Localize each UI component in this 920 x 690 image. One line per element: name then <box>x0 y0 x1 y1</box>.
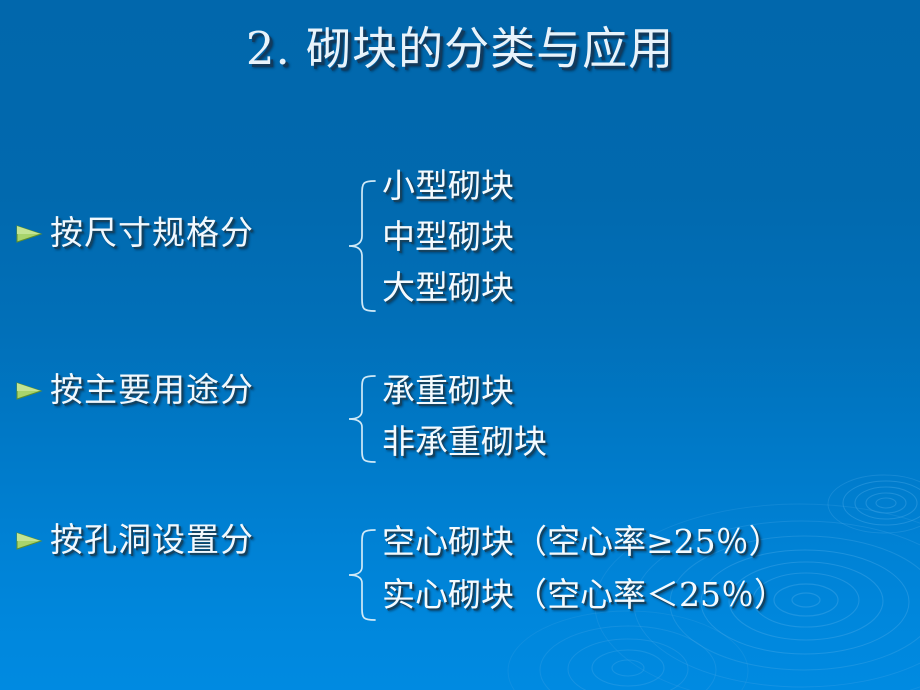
slide-body: 按尺寸规格分 小型砌块 中型砌块 大型砌块 <box>0 0 920 690</box>
group-heading-row[interactable]: 按孔洞设置分 <box>14 523 254 556</box>
sub-item-list: 小型砌块 中型砌块 大型砌块 <box>382 160 514 313</box>
sub-item: 小型砌块 <box>382 160 514 211</box>
sub-item-list: 空心砌块（空心率≥25％） 实心砌块（空心率＜25％） <box>382 515 787 621</box>
sub-item: 中型砌块 <box>382 211 514 262</box>
green-arrow-bullet-icon <box>14 526 44 556</box>
sub-item-list: 承重砌块 非承重砌块 <box>382 365 547 467</box>
slide-title: 2. 砌块的分类与应用 <box>0 24 920 74</box>
sub-item: 承重砌块 <box>382 365 547 416</box>
group-heading-row[interactable]: 按尺寸规格分 <box>14 216 254 249</box>
presentation-slide: 2. 砌块的分类与应用 按尺寸规格分 小型砌块 中型砌块 <box>0 0 920 690</box>
green-arrow-bullet-icon <box>14 376 44 406</box>
sub-item: 空心砌块（空心率≥25％） <box>382 515 787 568</box>
curly-brace-icon <box>345 373 385 465</box>
group-label: 按尺寸规格分 <box>44 216 254 249</box>
group-label: 按主要用途分 <box>44 373 254 406</box>
sub-item: 实心砌块（空心率＜25％） <box>382 568 787 621</box>
curly-brace-icon <box>345 178 385 314</box>
group-heading-row[interactable]: 按主要用途分 <box>14 373 254 406</box>
curly-brace-icon <box>345 527 385 623</box>
sub-item: 大型砌块 <box>382 262 514 313</box>
green-arrow-bullet-icon <box>14 219 44 249</box>
group-label: 按孔洞设置分 <box>44 523 254 556</box>
sub-item: 非承重砌块 <box>382 416 547 467</box>
